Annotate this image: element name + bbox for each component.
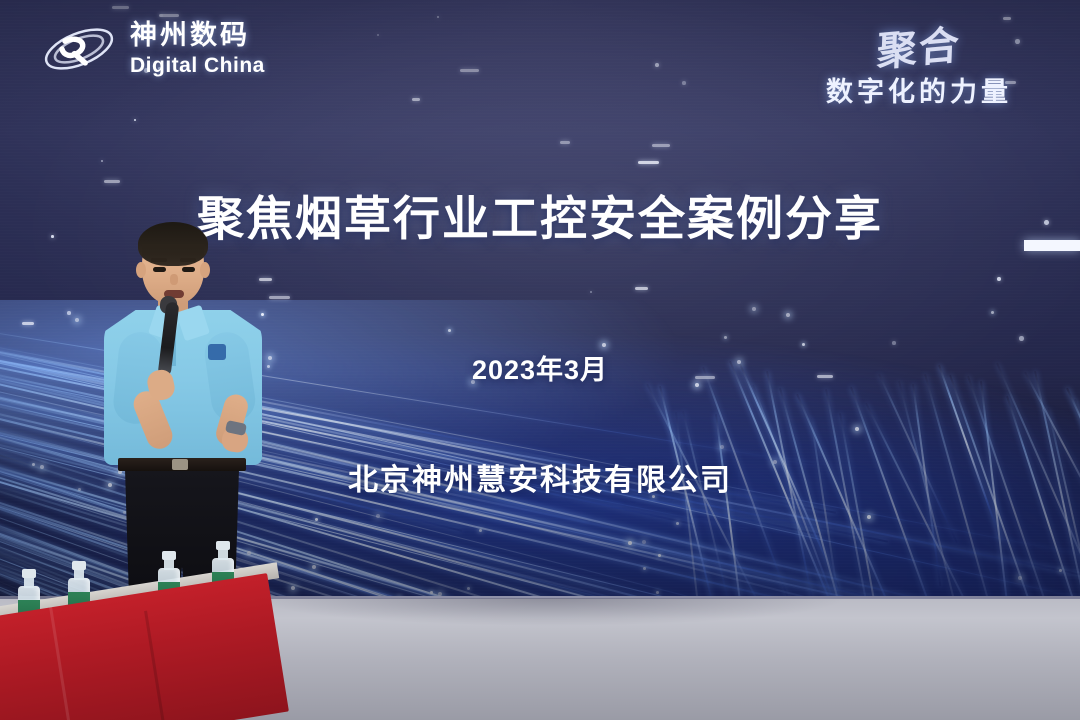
bottle-cap <box>22 569 36 578</box>
accent-bar <box>1024 240 1080 251</box>
speaker-eye-right <box>182 267 195 272</box>
speaker-hair <box>138 222 208 266</box>
speaker-nose <box>170 274 178 285</box>
speaker-eyebrow-right <box>180 258 196 262</box>
brand-logo: 神州数码 Digital China <box>40 18 265 80</box>
head-table <box>0 560 300 720</box>
speaker-figure <box>96 222 276 602</box>
conference-photo: 神州数码 Digital China 聚合 数字化的力量 聚焦烟草行业工控安全案… <box>0 0 1080 720</box>
slogan-calligraphy: 聚合 <box>876 12 962 78</box>
bottle-cap <box>162 551 176 560</box>
digital-china-swirl-icon <box>40 18 118 80</box>
stage-shadow <box>200 598 900 638</box>
speaker-ear-right <box>200 262 210 278</box>
speaker-belt-buckle <box>172 459 188 470</box>
speaker-eye-left <box>153 267 166 272</box>
tablecloth <box>0 573 289 720</box>
bottle-cap <box>216 541 230 550</box>
bottle-cap <box>72 561 86 570</box>
brand-name-cn: 神州数码 <box>130 22 265 49</box>
speaker-shirt-logo <box>208 344 226 360</box>
speaker-ear-left <box>136 262 146 278</box>
slogan-subtitle: 数字化的力量 <box>784 70 1054 109</box>
event-slogan: 聚合 数字化的力量 <box>784 16 1054 109</box>
speaker-eyebrow-left <box>151 258 167 262</box>
brand-name-en: Digital China <box>130 55 265 76</box>
